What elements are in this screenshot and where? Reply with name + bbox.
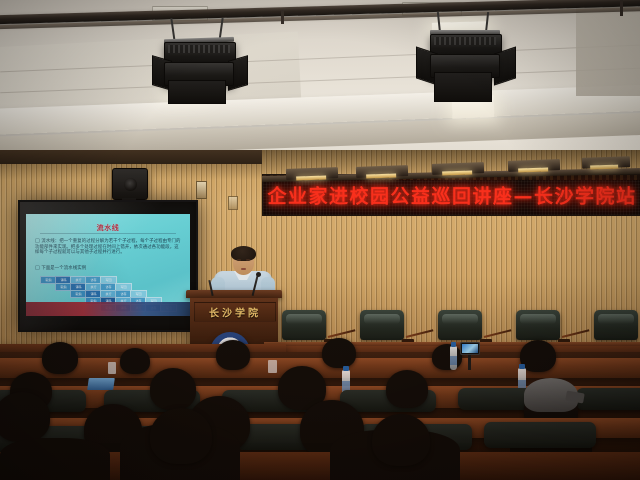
ceiling-corner <box>576 0 640 96</box>
led-banner-text: 企业家进校园公益巡回讲座—长沙学院站 <box>263 182 640 209</box>
table-microphone <box>328 329 356 338</box>
audience-head <box>372 414 430 466</box>
audience-head <box>386 370 428 408</box>
paper-sheet <box>108 362 116 374</box>
podium-top-surface <box>186 290 282 298</box>
spotlight <box>356 165 408 178</box>
spotlight <box>432 162 484 175</box>
audience-head <box>42 342 78 374</box>
audience-head <box>0 392 50 442</box>
audience-head <box>216 340 250 370</box>
projection-screen: 流水线 □ 流水线：把一个重复的过程分解为若干个子过程，每个子过程由专门的功能部… <box>18 200 198 332</box>
barn-door-bottom <box>168 80 226 104</box>
table-microphone <box>562 329 590 338</box>
spotlight <box>286 167 338 180</box>
wall-lamp <box>196 181 207 199</box>
stage-chair <box>360 310 404 340</box>
barn-door-bottom <box>434 72 492 102</box>
audience-shoulders <box>0 438 110 480</box>
paper-sheet <box>268 360 277 373</box>
stage-chair <box>438 310 482 340</box>
presenter-hair <box>231 246 256 261</box>
screen-glare <box>20 202 196 330</box>
stage-chair <box>516 310 560 340</box>
audience-head <box>150 408 212 464</box>
audience-head <box>120 348 150 374</box>
smartphone-recording <box>460 342 480 355</box>
lecture-hall-photo: 企业家进校园公益巡回讲座—长沙学院站 流水线 □ 流水线：把一个重复的过程分解为… <box>0 0 640 480</box>
stage-light-right <box>408 12 516 100</box>
wall-recess <box>0 150 262 164</box>
stage-chair <box>594 310 638 340</box>
audience-head <box>520 340 556 372</box>
table-microphone <box>484 329 512 338</box>
truss-drop-rod <box>620 0 623 16</box>
table-microphone <box>406 329 434 338</box>
audience-head <box>322 338 356 368</box>
stage-chair <box>282 310 326 340</box>
water-bottle <box>450 346 457 370</box>
podium-name-text: 长沙学院 <box>195 305 275 320</box>
audience-area <box>0 352 640 480</box>
podium-microphone-head <box>256 272 261 277</box>
phone-tripod <box>468 354 471 370</box>
laptop <box>87 378 115 390</box>
wall-loudspeaker <box>112 168 148 200</box>
truss-drop-rod <box>281 10 284 24</box>
spotlight <box>582 156 630 169</box>
podium-name-plate: 长沙学院 <box>194 302 276 322</box>
wall-lamp <box>228 196 238 210</box>
spotlight <box>508 159 560 172</box>
stage-light-left <box>146 18 250 102</box>
audience-head <box>150 368 196 410</box>
audience-head <box>432 344 462 370</box>
audience-seatback <box>484 422 596 448</box>
